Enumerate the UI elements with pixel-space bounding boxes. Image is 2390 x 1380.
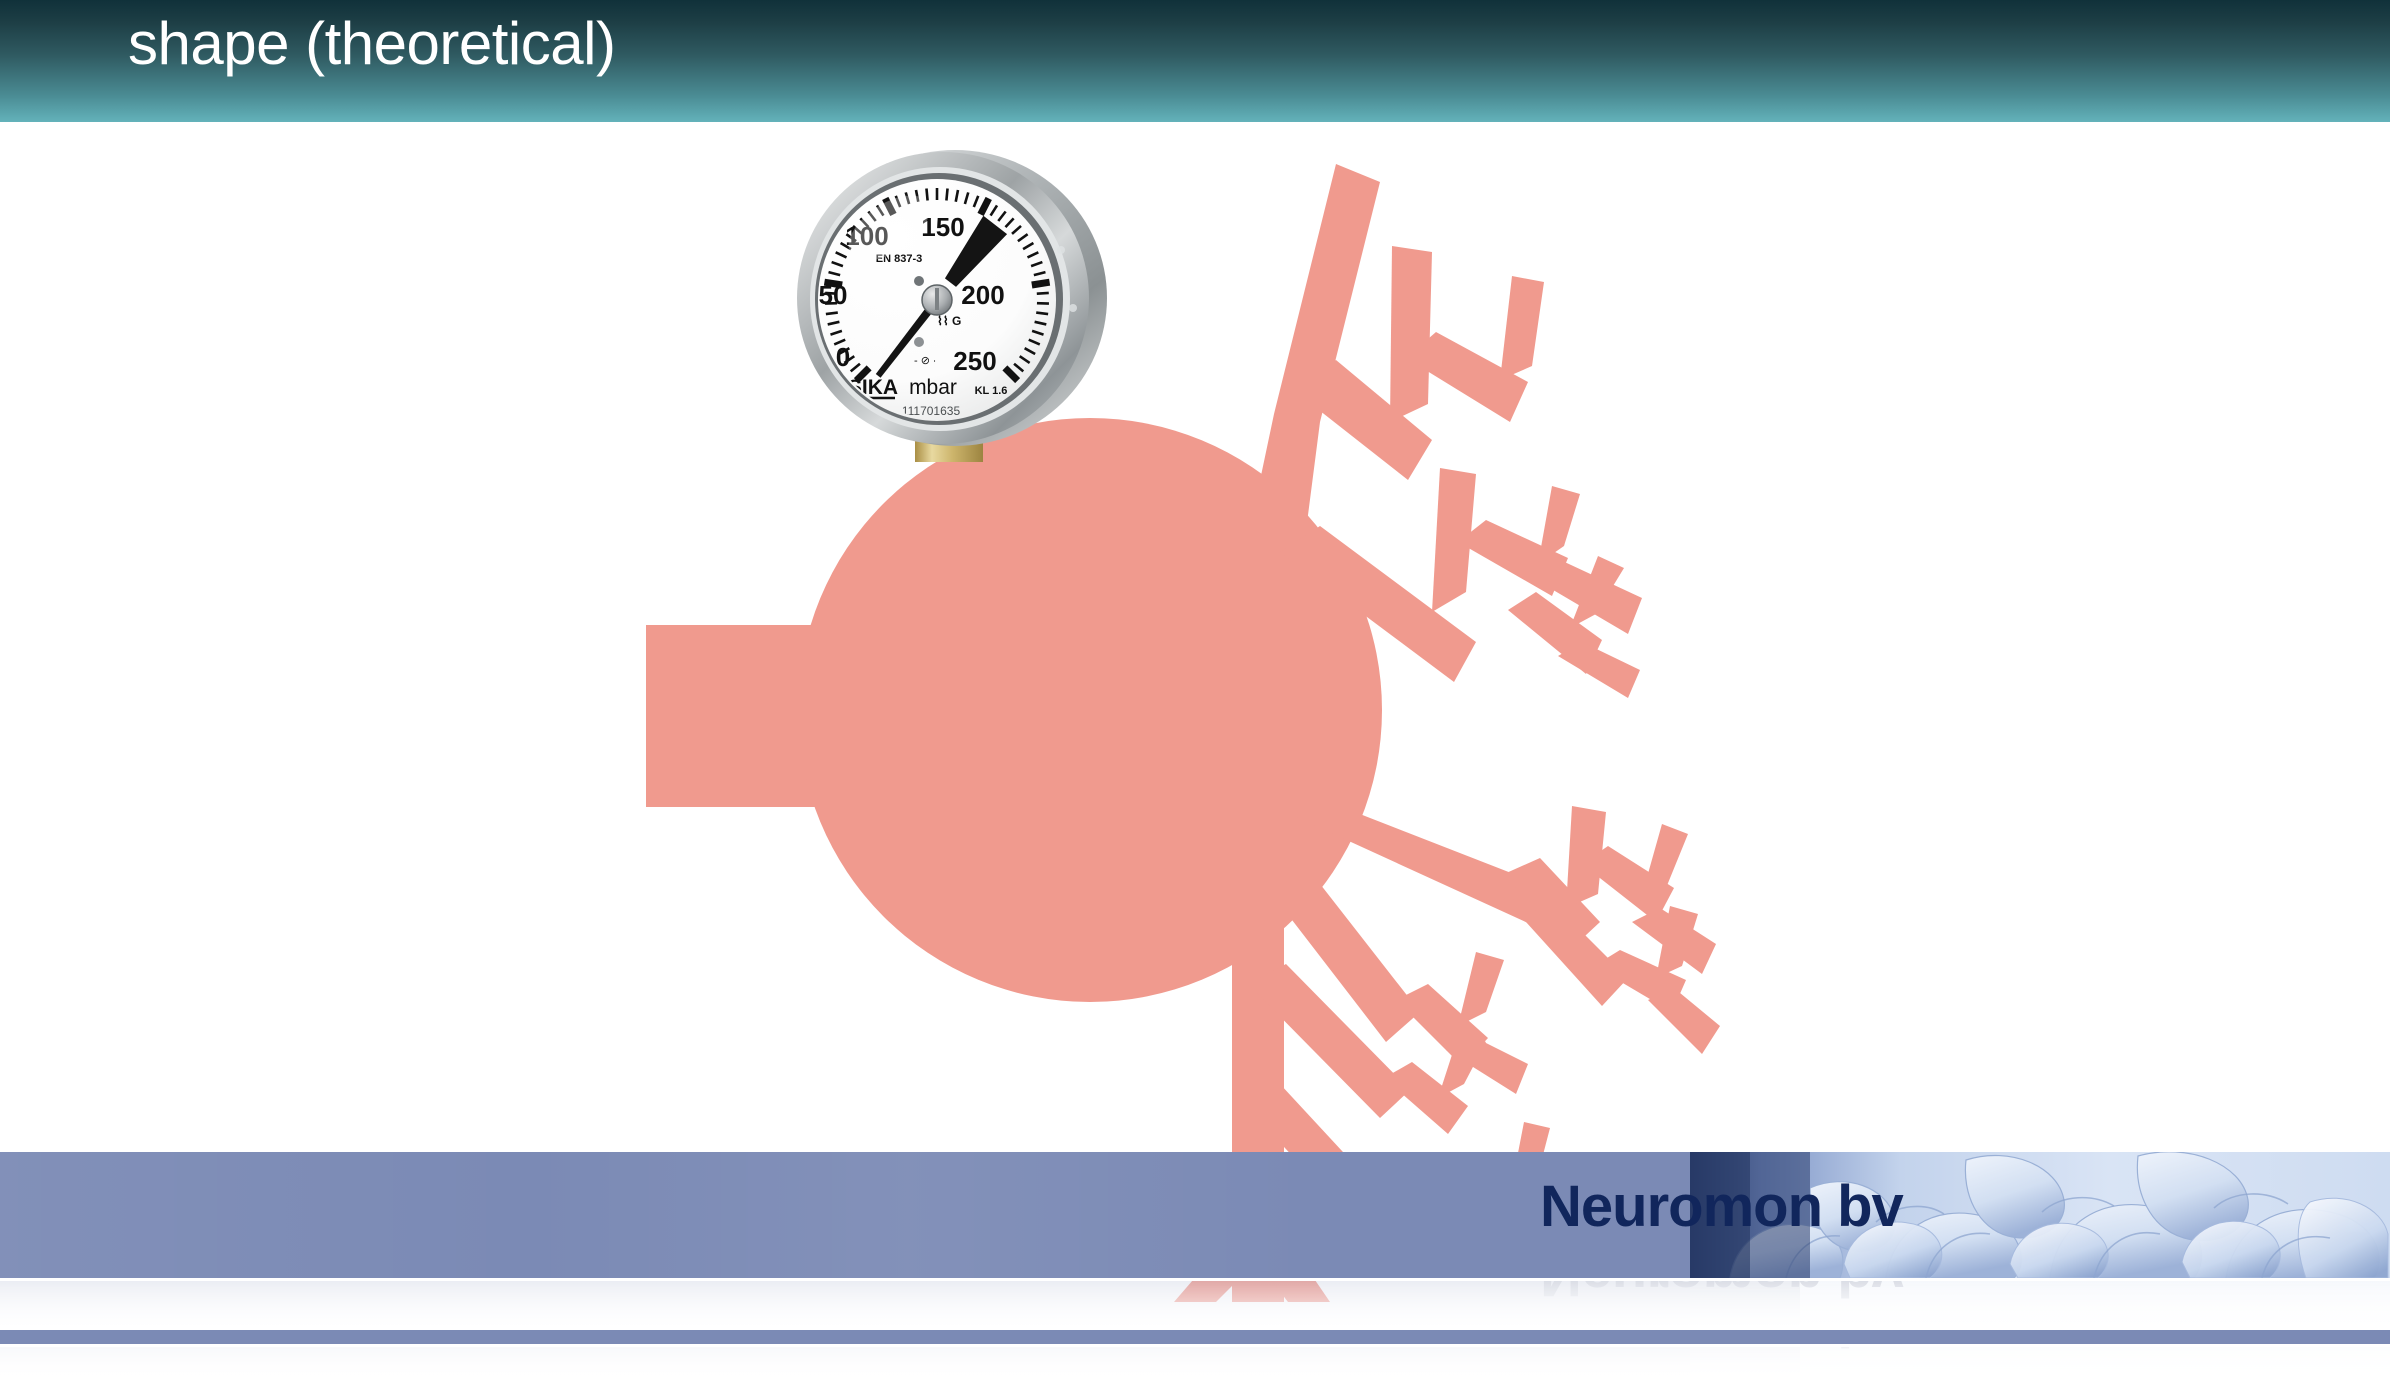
footer-brand-label: Neuromon bv [1540,1178,1903,1236]
footer-band: Neuromon bv [0,1152,2390,1278]
footer-reflection: Neuromon bv [0,1281,2390,1330]
gauge-polarity-marks: - ⊘ ∙ [914,355,936,367]
footer-accent-strip [0,1330,2390,1344]
slide-footer: Neuromon bv [0,1152,2390,1380]
gauge-gas-symbol: ⌇⌇ G [937,314,961,328]
gauge-label-200: 200 [961,280,1004,310]
pressure-gauge: 100 150 50 200 0 250 EN 837-3 ⌇⌇ G - ⊘ ∙ [795,132,1115,462]
slide-title-bar: shape (theoretical) [0,0,2390,122]
gauge-unit-label: mbar [909,376,957,399]
footer-reflection-secondary: Neuromon bv [0,1347,2390,1380]
gauge-accuracy-label: KL 1.6 [975,385,1008,397]
slide-canvas: shape (theoretical) [0,0,2390,1380]
page-title: shape (theoretical) [128,14,615,74]
gauge-label-50: 50 [819,280,848,310]
gauge-label-250: 250 [953,346,996,376]
